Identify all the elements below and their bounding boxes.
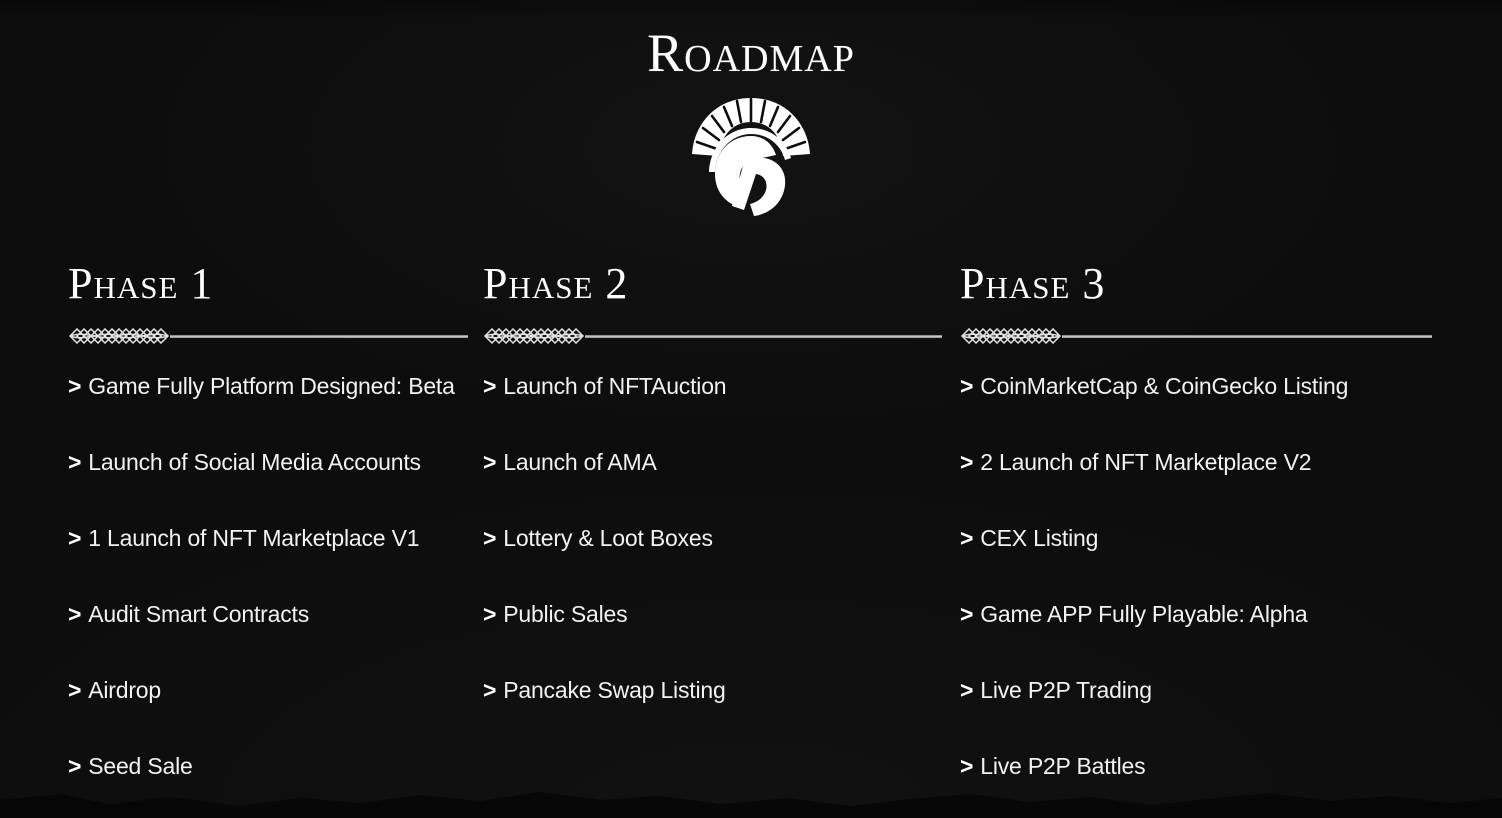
divider-rule <box>170 335 468 338</box>
list-item-label: 2 Launch of NFT Marketplace V2 <box>980 449 1311 475</box>
list-item-label: Airdrop <box>88 677 161 703</box>
list-item: >Live P2P Battles <box>960 754 1432 818</box>
list-item-label: Game Fully Platform Designed: Beta <box>88 373 454 399</box>
list-item-label: Seed Sale <box>88 753 192 779</box>
phase-item-list-2: >Launch of NFTAuction >Launch of AMA >Lo… <box>483 374 942 754</box>
ornamental-divider-2 <box>483 328 942 344</box>
phase-title-2: Phase 2 <box>483 262 942 306</box>
divider-rule <box>1062 335 1432 338</box>
bullet-caret: > <box>960 601 973 627</box>
list-item: >CEX Listing <box>960 526 1432 602</box>
list-item: >Launch of NFTAuction <box>483 374 942 450</box>
list-item-label: CEX Listing <box>980 525 1098 551</box>
celtic-knot-icon <box>483 328 587 344</box>
list-item-label: CoinMarketCap & CoinGecko Listing <box>980 373 1348 399</box>
phase-column-2: Phase 2 <box>476 262 950 818</box>
list-item-label: Audit Smart Contracts <box>88 601 309 627</box>
list-item: >CoinMarketCap & CoinGecko Listing <box>960 374 1432 450</box>
list-item: >Launch of AMA <box>483 450 942 526</box>
bullet-caret: > <box>960 677 973 703</box>
bullet-caret: > <box>68 753 81 779</box>
list-item: >Launch of Social Media Accounts <box>68 450 468 526</box>
list-item-label: 1 Launch of NFT Marketplace V1 <box>88 525 419 551</box>
list-item-label: Launch of AMA <box>503 449 656 475</box>
list-item-label: Game APP Fully Playable: Alpha <box>980 601 1307 627</box>
spartan-helmet-icon <box>688 92 814 222</box>
list-item-label: Launch of NFTAuction <box>503 373 726 399</box>
list-item: >2 Launch of NFT Marketplace V2 <box>960 450 1432 526</box>
divider-rule <box>585 335 942 338</box>
list-item: >Game Fully Platform Designed: Beta <box>68 374 468 450</box>
roadmap-page: Roadmap <box>0 0 1502 818</box>
bullet-caret: > <box>68 373 81 399</box>
list-item: >Seed Sale <box>68 754 468 818</box>
phase-item-list-1: >Game Fully Platform Designed: Beta >Lau… <box>68 374 468 818</box>
list-item: >1 Launch of NFT Marketplace V1 <box>68 526 468 602</box>
bullet-caret: > <box>960 753 973 779</box>
bullet-caret: > <box>483 601 496 627</box>
bullet-caret: > <box>483 449 496 475</box>
list-item: >Public Sales <box>483 602 942 678</box>
list-item-label: Live P2P Trading <box>980 677 1152 703</box>
list-item-label: Pancake Swap Listing <box>503 677 725 703</box>
phase-column-3: Phase 3 <box>950 262 1502 818</box>
celtic-knot-icon <box>68 328 172 344</box>
bullet-caret: > <box>960 525 973 551</box>
list-item: >Live P2P Trading <box>960 678 1432 754</box>
list-item: >Pancake Swap Listing <box>483 678 942 754</box>
bullet-caret: > <box>68 525 81 551</box>
list-item: >Lottery & Loot Boxes <box>483 526 942 602</box>
phase-item-list-3: >CoinMarketCap & CoinGecko Listing >2 La… <box>960 374 1432 818</box>
bullet-caret: > <box>960 449 973 475</box>
bullet-caret: > <box>68 601 81 627</box>
bullet-caret: > <box>960 373 973 399</box>
bullet-caret: > <box>68 677 81 703</box>
celtic-knot-icon <box>960 328 1064 344</box>
phase-title-1: Phase 1 <box>68 262 468 306</box>
list-item: >Airdrop <box>68 678 468 754</box>
list-item-label: Lottery & Loot Boxes <box>503 525 713 551</box>
bullet-caret: > <box>68 449 81 475</box>
page-title: Roadmap <box>0 0 1502 80</box>
page-header: Roadmap <box>0 0 1502 227</box>
list-item-label: Launch of Social Media Accounts <box>88 449 421 475</box>
bullet-caret: > <box>483 525 496 551</box>
phase-title-3: Phase 3 <box>960 262 1432 306</box>
list-item: >Game APP Fully Playable: Alpha <box>960 602 1432 678</box>
bullet-caret: > <box>483 677 496 703</box>
bullet-caret: > <box>483 373 496 399</box>
list-item-label: Live P2P Battles <box>980 753 1145 779</box>
ornamental-divider-3 <box>960 328 1432 344</box>
phase-columns: Phase 1 <box>0 262 1502 818</box>
list-item-label: Public Sales <box>503 601 627 627</box>
ornamental-divider-1 <box>68 328 468 344</box>
list-item: >Audit Smart Contracts <box>68 602 468 678</box>
phase-column-1: Phase 1 <box>0 262 476 818</box>
